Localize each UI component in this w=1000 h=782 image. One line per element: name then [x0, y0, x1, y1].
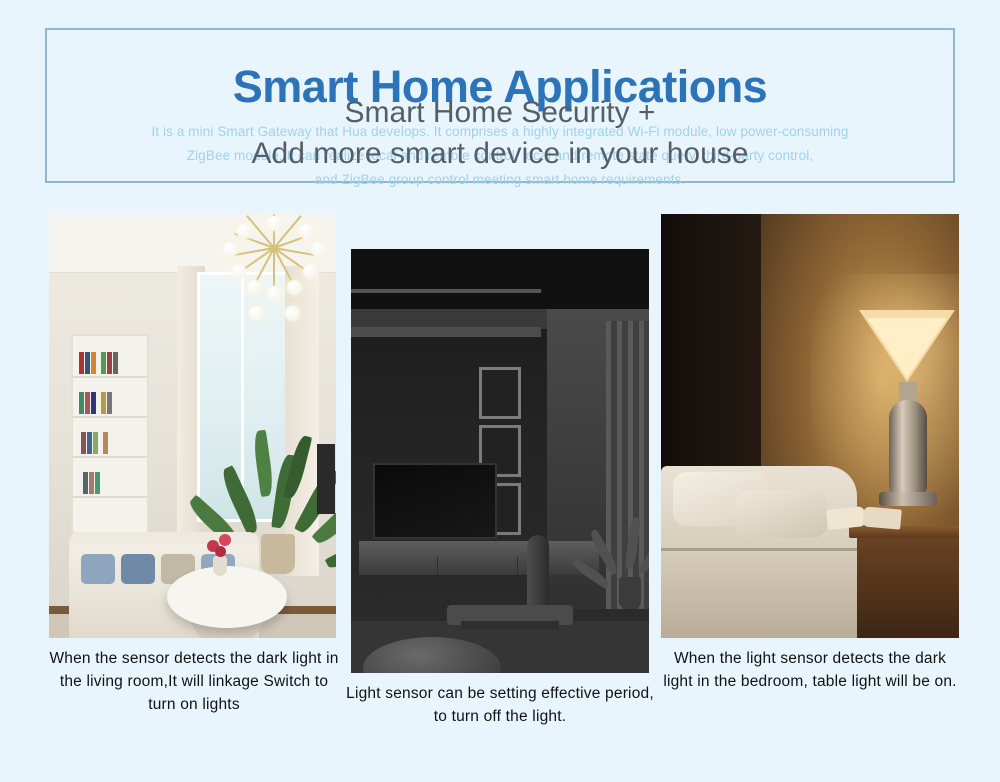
- panel-living-room-bright-image: [49, 214, 336, 638]
- chandelier-bulb: [287, 280, 302, 295]
- bed-sheet-line: [661, 548, 857, 551]
- cushion: [121, 554, 155, 584]
- chandelier-bulb: [231, 264, 246, 279]
- chandelier-bulb: [237, 224, 252, 239]
- chandelier-bulb: [223, 242, 238, 257]
- railing: [351, 289, 541, 293]
- chandelier-bulb: [285, 306, 300, 321]
- mezzanine-floor: [351, 327, 541, 337]
- books-row: [79, 392, 113, 414]
- flower-vase: [199, 532, 239, 576]
- subtitle-line-2: Add more smart device in your house: [0, 133, 1000, 174]
- panel-living-room-dark-image: [351, 249, 649, 673]
- tv-side: [317, 444, 335, 514]
- chandelier: [199, 214, 336, 354]
- nightstand: [857, 532, 959, 638]
- books-row: [79, 352, 119, 374]
- chandelier-bulb: [247, 280, 262, 295]
- cushion: [81, 554, 115, 584]
- chandelier-bulb: [311, 242, 326, 257]
- lamp-shade-inner: [867, 318, 947, 378]
- chandelier-bulb: [303, 264, 318, 279]
- pillow: [735, 490, 827, 538]
- open-book: [827, 504, 901, 530]
- caption-bedroom: When the light sensor detects the dark l…: [658, 647, 962, 693]
- chandelier-bulb: [249, 306, 264, 321]
- bookshelf: [71, 334, 149, 534]
- caption-living-room-bright: When the sensor detects the dark light i…: [44, 647, 344, 716]
- subtitle-line-1: Smart Home Security +: [345, 96, 656, 129]
- coffee-table-shelf: [461, 621, 559, 629]
- books-row: [81, 432, 109, 454]
- books-row: [83, 472, 101, 494]
- panel-bedroom-image: [661, 214, 959, 638]
- caption-living-room-dark: Light sensor can be setting effective pe…: [344, 682, 656, 728]
- lamp-base: [879, 492, 937, 506]
- television: [373, 463, 497, 539]
- potted-plant: [603, 517, 649, 627]
- chandelier-bulb: [299, 224, 314, 239]
- floor-lamp: [527, 535, 549, 607]
- media-cabinet: [359, 541, 599, 575]
- lamp-body: [889, 400, 927, 496]
- page-subtitle: Smart Home Security + Add more smart dev…: [0, 92, 1000, 174]
- chandelier-bulb: [267, 216, 282, 231]
- wall-frame: [479, 367, 521, 419]
- chandelier-bulb: [267, 286, 282, 301]
